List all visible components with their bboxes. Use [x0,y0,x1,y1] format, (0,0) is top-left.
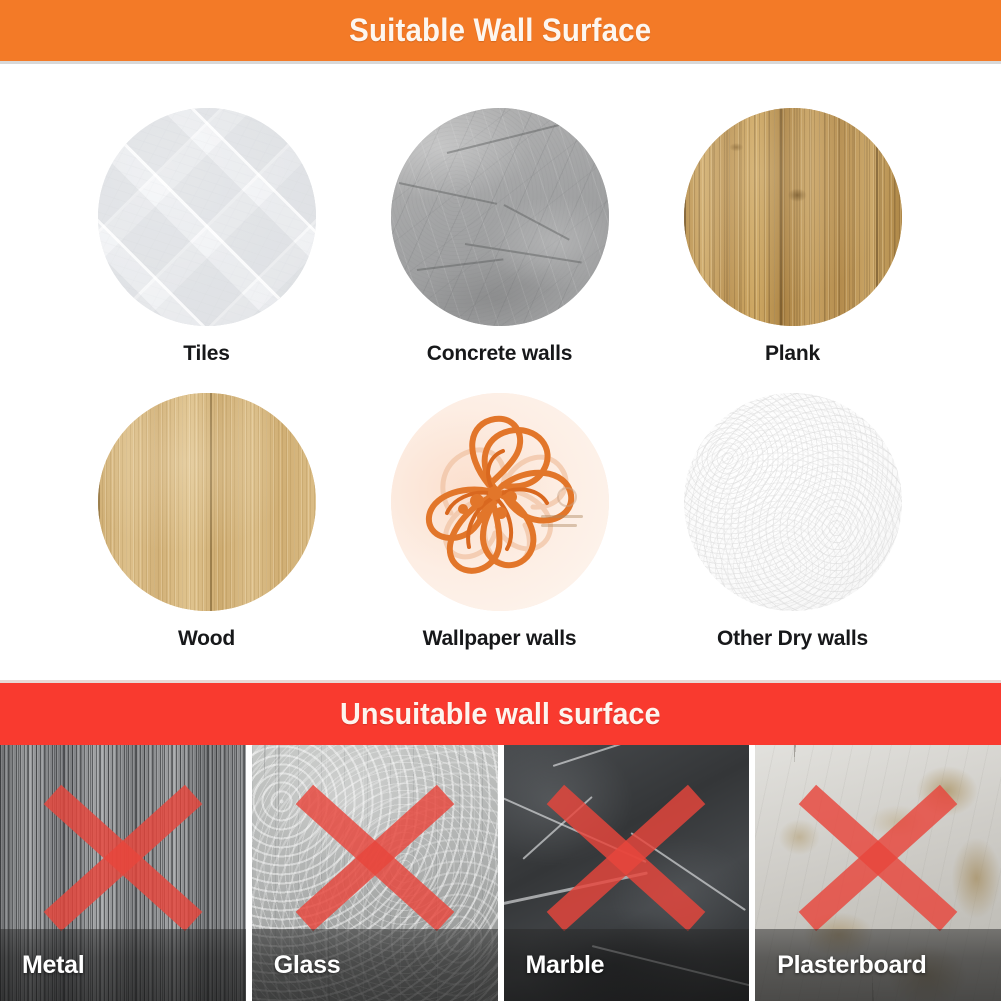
surface-label-plank: Plank [765,342,820,366]
unsuitable-card-metal: Metal [0,745,246,1001]
swatch-concrete [391,108,609,326]
crack-line [503,204,569,241]
marble-label-bar: Marble [504,929,750,1001]
swatch-wallpaper [391,393,609,611]
surface-card-plank: Plank [646,108,939,393]
unsuitable-label-marble: Marble [526,951,605,980]
swatch-drywall [684,393,902,611]
wallpaper-texture [391,393,609,611]
swatch-plank [684,108,902,326]
flower-illustration-icon [391,393,609,611]
crack-line [399,182,497,205]
drywall-texture [684,393,902,611]
swatch-wood [98,393,316,611]
surface-card-concrete: Concrete walls [353,108,646,393]
unsuitable-label-glass: Glass [274,951,341,980]
unsuitable-header-bar: Unsuitable wall surface [0,680,1001,745]
tiles-texture [98,108,316,326]
marble-vein [504,871,648,907]
page-title: Suitable Wall Surface [349,12,651,49]
crack-line [447,121,570,154]
marble-vein [522,795,593,859]
swatch-tiles [98,108,316,326]
surface-label-wood: Wood [178,627,235,651]
surface-label-drywall: Other Dry walls [717,627,868,651]
marble-vein [631,832,746,911]
unsuitable-title: Unsuitable wall surface [340,696,660,732]
concrete-texture [391,108,609,326]
infographic-page: Suitable Wall Surface Tiles [0,0,1001,1001]
surface-card-tiles: Tiles [60,108,353,393]
marble-vein [504,791,647,863]
unsuitable-label-metal: Metal [22,951,84,980]
surface-label-tiles: Tiles [183,342,229,366]
crack-line [417,259,504,272]
plank-texture [684,108,902,326]
unsuitable-card-marble: Marble [504,745,750,1001]
plasterboard-label-bar: Plasterboard [755,929,1001,1001]
surface-label-wallpaper: Wallpaper walls [423,627,577,651]
marble-vein [552,745,749,767]
surface-label-concrete: Concrete walls [427,342,572,366]
surface-card-drywall: Other Dry walls [646,393,939,678]
unsuitable-surface-row: Metal Glass [0,745,1001,1001]
suitable-surfaces-section: Tiles Concrete walls [0,64,1001,680]
wood-texture [98,393,316,611]
unsuitable-label-plasterboard: Plasterboard [777,951,926,980]
suitable-surface-grid: Tiles Concrete walls [60,108,941,678]
unsuitable-card-plasterboard: Plasterboard [755,745,1001,1001]
glass-label-bar: Glass [252,929,498,1001]
suitable-header-bar: Suitable Wall Surface [0,0,1001,64]
unsuitable-card-glass: Glass [252,745,498,1001]
surface-card-wood: Wood [60,393,353,678]
surface-card-wallpaper: Wallpaper walls [353,393,646,678]
metal-label-bar: Metal [0,929,246,1001]
